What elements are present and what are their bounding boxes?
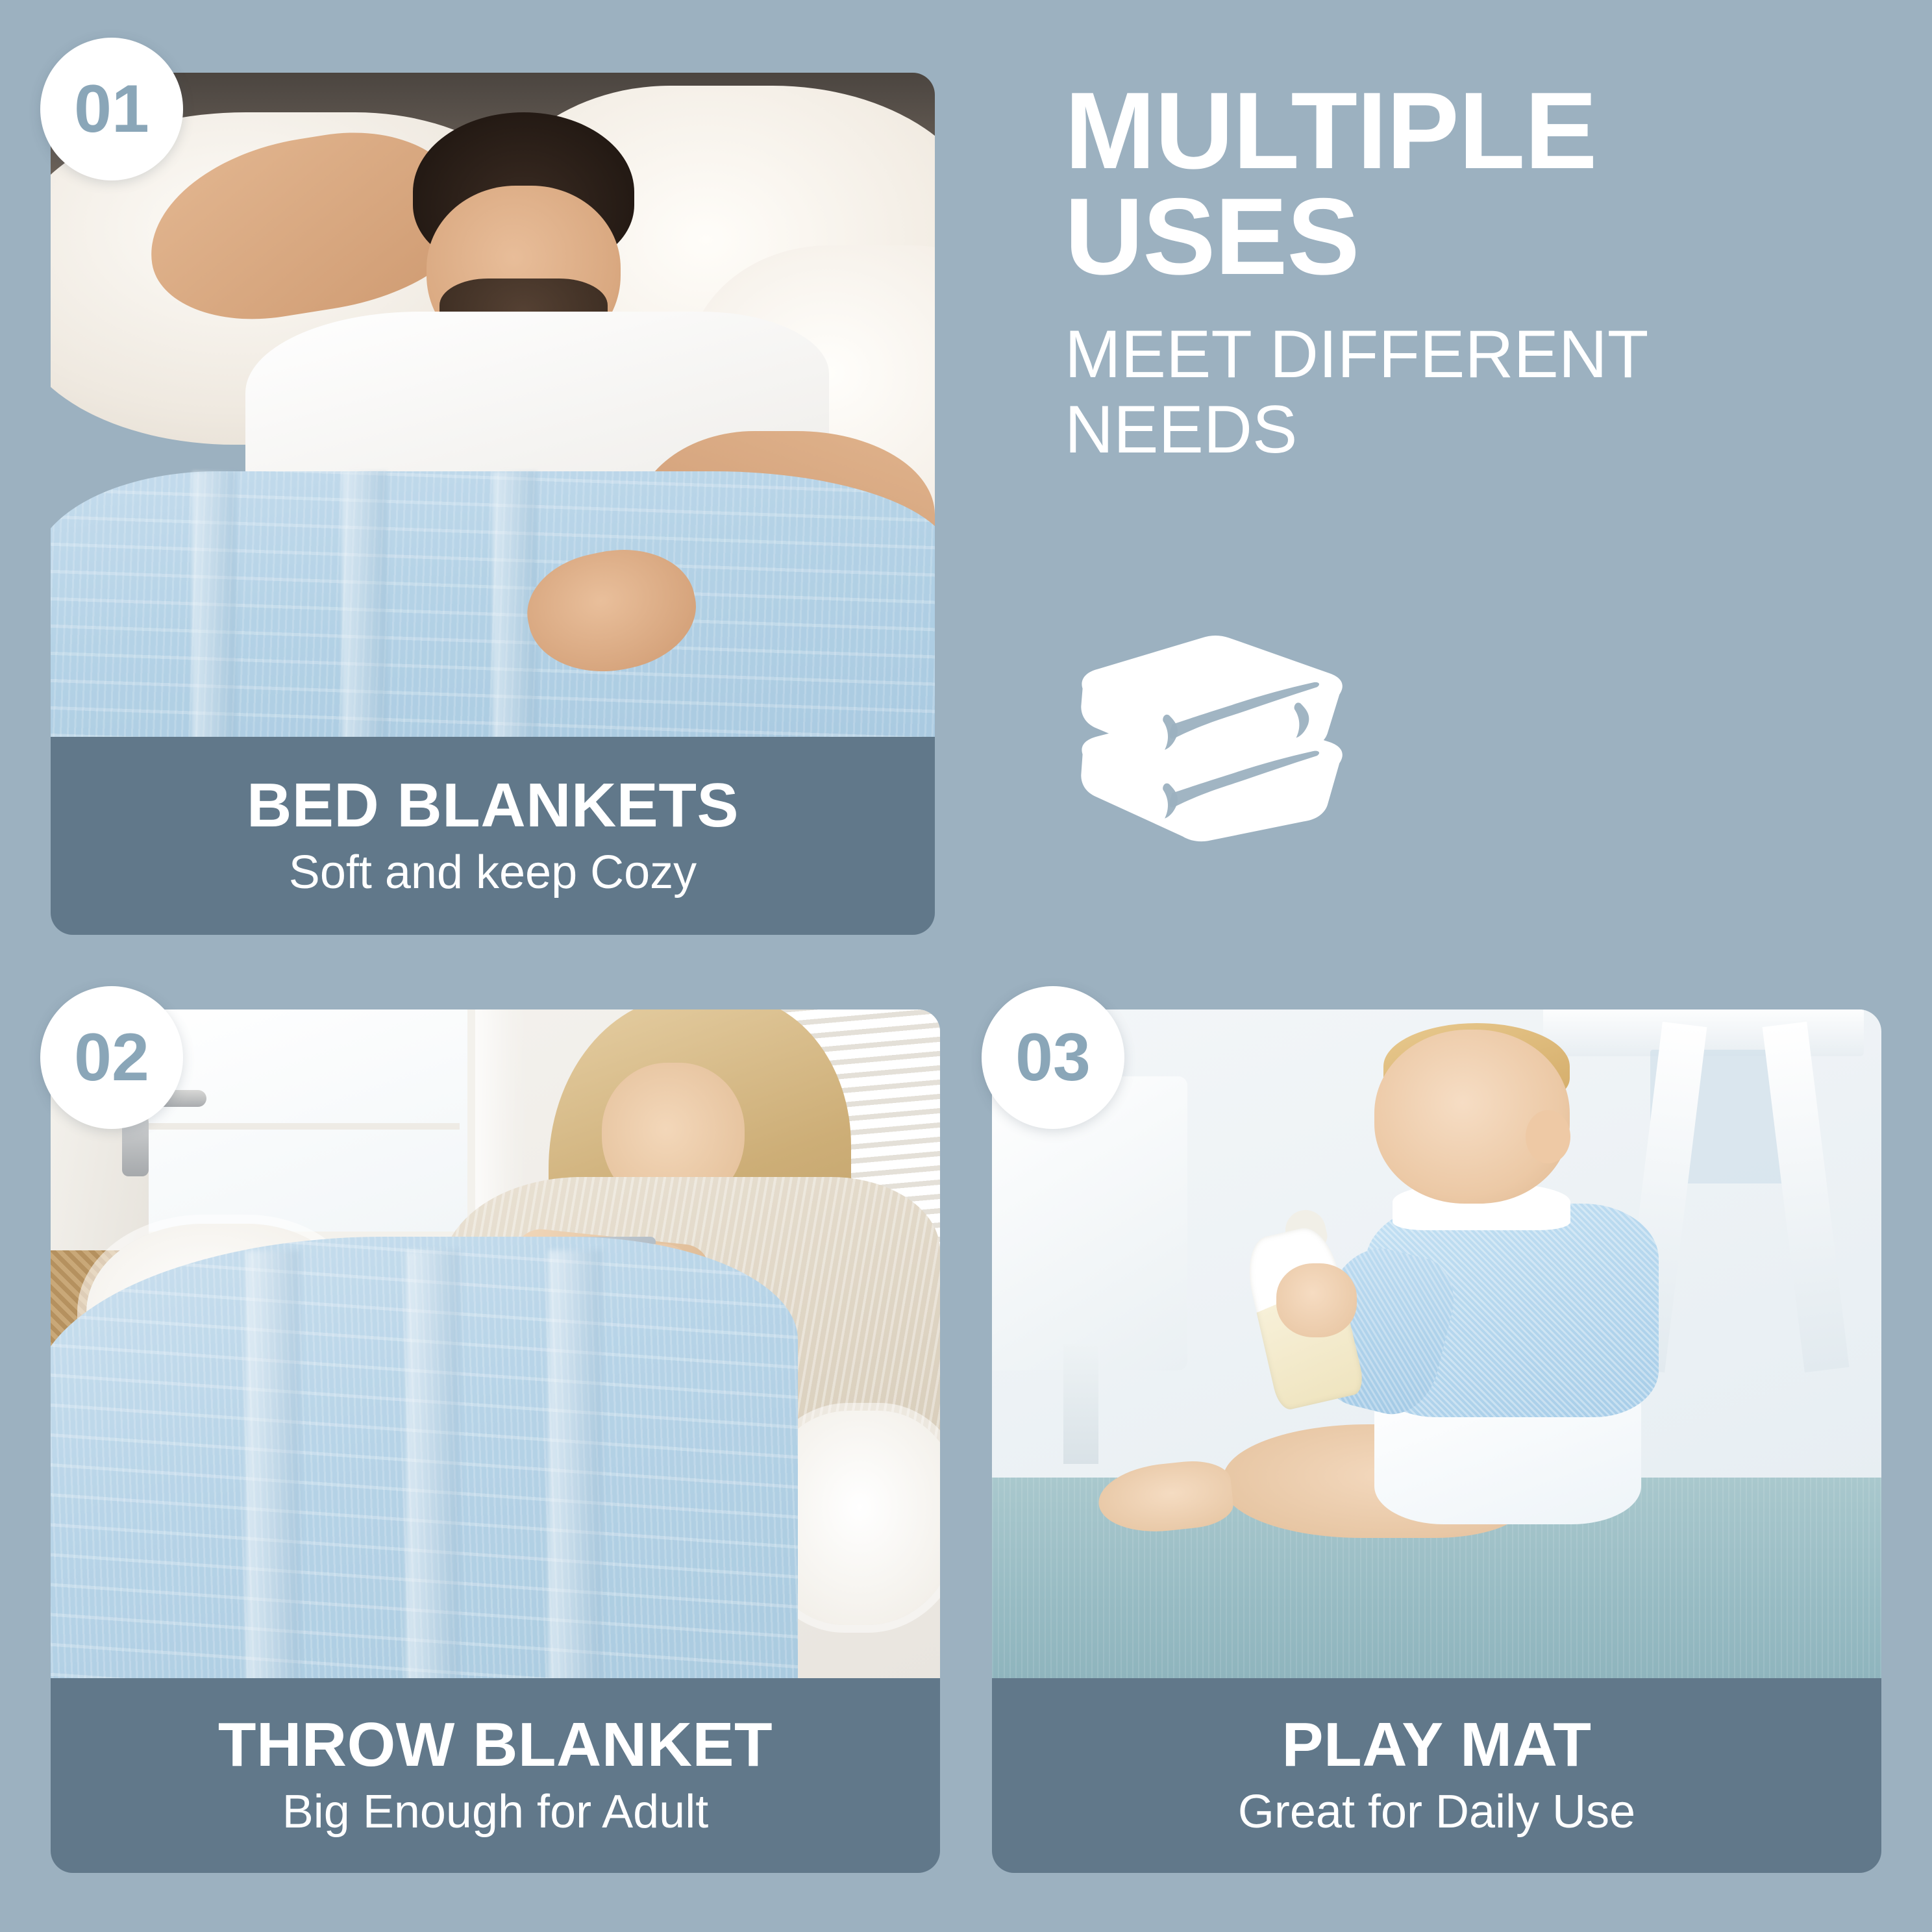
badge-03: 03 bbox=[982, 986, 1124, 1129]
card-subtitle-throw-blanket: Big Enough for Adult bbox=[282, 1788, 708, 1837]
card-title-bed-blankets: BED BLANKETS bbox=[247, 774, 739, 837]
card-bed-blankets[interactable]: BED BLANKETS Soft and keep Cozy 01 bbox=[51, 73, 935, 935]
card-subtitle-bed-blankets: Soft and keep Cozy bbox=[289, 848, 697, 898]
card-title-throw-blanket: THROW BLANKET bbox=[218, 1714, 773, 1776]
headline-title-line1: MULTIPLE bbox=[1065, 78, 1889, 184]
headline-subtitle-line1: MEET DIFFERENT bbox=[1065, 317, 1889, 392]
card-caption-throw-blanket: THROW BLANKET Big Enough for Adult bbox=[51, 1678, 940, 1873]
scene-man-sleeping bbox=[51, 73, 935, 737]
scene-baby-on-mat bbox=[992, 1009, 1881, 1678]
card-caption-bed-blankets: BED BLANKETS Soft and keep Cozy bbox=[51, 737, 935, 935]
card-photo-throw-blanket bbox=[51, 1009, 940, 1678]
headline-block: MULTIPLE USES MEET DIFFERENT NEEDS bbox=[1065, 78, 1889, 468]
card-photo-play-mat bbox=[992, 1009, 1881, 1678]
card-subtitle-play-mat: Great for Daily Use bbox=[1238, 1788, 1635, 1837]
folded-blankets-icon bbox=[1065, 617, 1363, 863]
card-throw-blanket[interactable]: THROW BLANKET Big Enough for Adult 02 bbox=[51, 1009, 940, 1873]
headline-title-line2: USES bbox=[1065, 184, 1889, 290]
badge-02: 02 bbox=[40, 986, 183, 1129]
card-caption-play-mat: PLAY MAT Great for Daily Use bbox=[992, 1678, 1881, 1873]
headline-subtitle-line2: NEEDS bbox=[1065, 392, 1889, 467]
card-photo-bed-blankets bbox=[51, 73, 935, 737]
card-play-mat[interactable]: PLAY MAT Great for Daily Use 03 bbox=[992, 1009, 1881, 1873]
card-title-play-mat: PLAY MAT bbox=[1282, 1714, 1592, 1776]
badge-01: 01 bbox=[40, 38, 183, 180]
scene-woman-with-mug bbox=[51, 1009, 940, 1678]
